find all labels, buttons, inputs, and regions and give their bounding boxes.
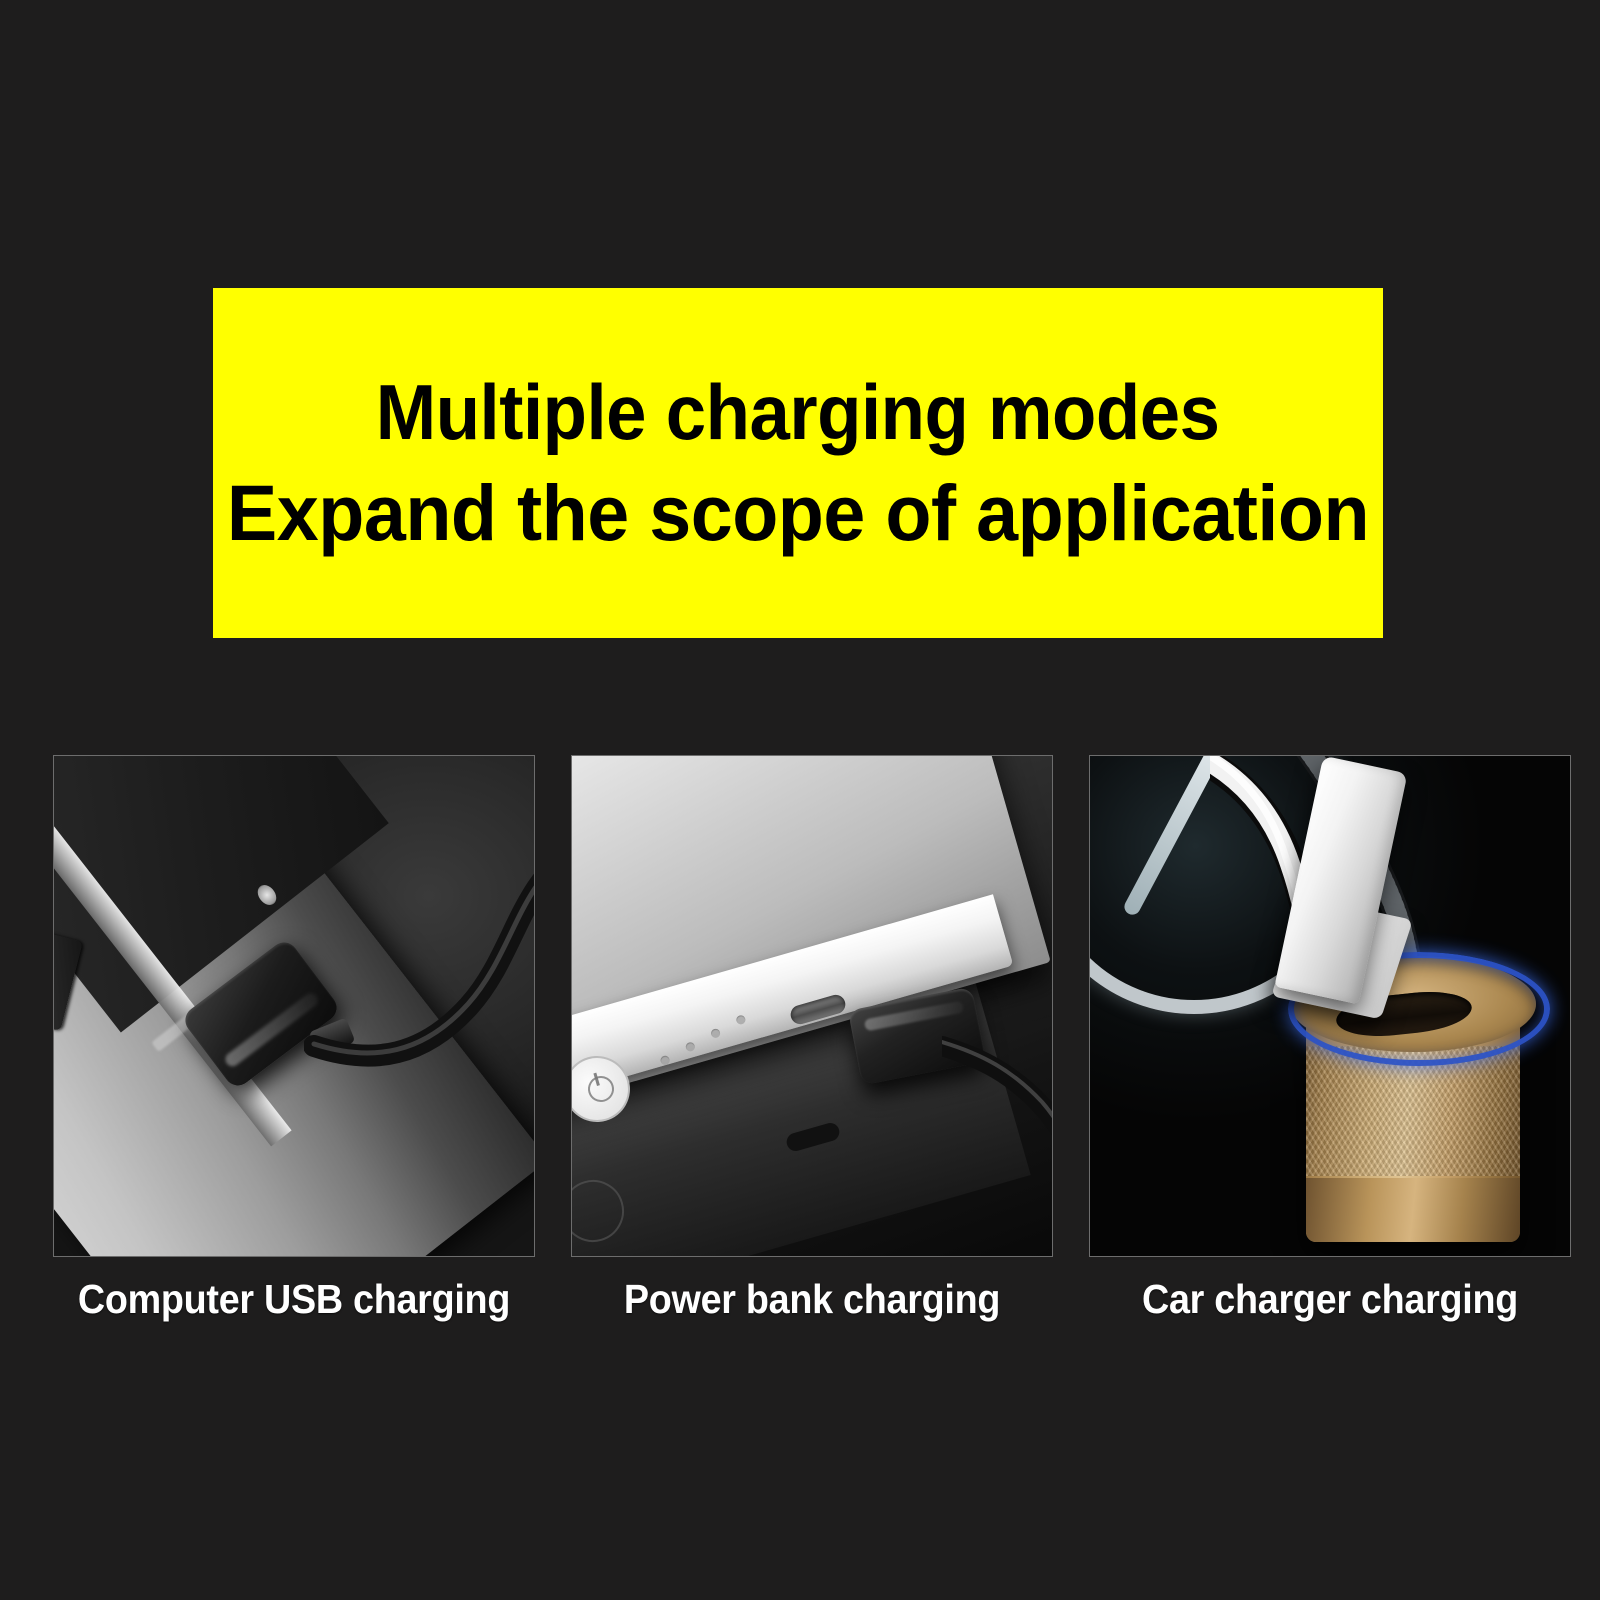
caption-computer-usb: Computer USB charging <box>72 1268 515 1330</box>
caption-car-charger: Car charger charging <box>1108 1268 1551 1330</box>
car-charger-lower-band <box>1306 1178 1520 1242</box>
usb-cable <box>304 816 535 1116</box>
headline-line-1: Multiple charging modes <box>376 363 1220 463</box>
headline-line-2: Expand the scope of application <box>227 462 1369 563</box>
photo-panel-row: caps lock tab <box>53 755 1571 1257</box>
photo-panel-computer-usb: caps lock tab <box>53 755 535 1257</box>
photo-panel-power-bank <box>571 755 1053 1257</box>
caption-row: Computer USB charging Power bank chargin… <box>53 1268 1571 1330</box>
photo-panel-car-charger <box>1089 755 1571 1257</box>
headline-banner: Multiple charging modes Expand the scope… <box>213 288 1383 638</box>
usb-cable <box>942 1014 1053 1174</box>
caption-power-bank: Power bank charging <box>590 1268 1033 1330</box>
